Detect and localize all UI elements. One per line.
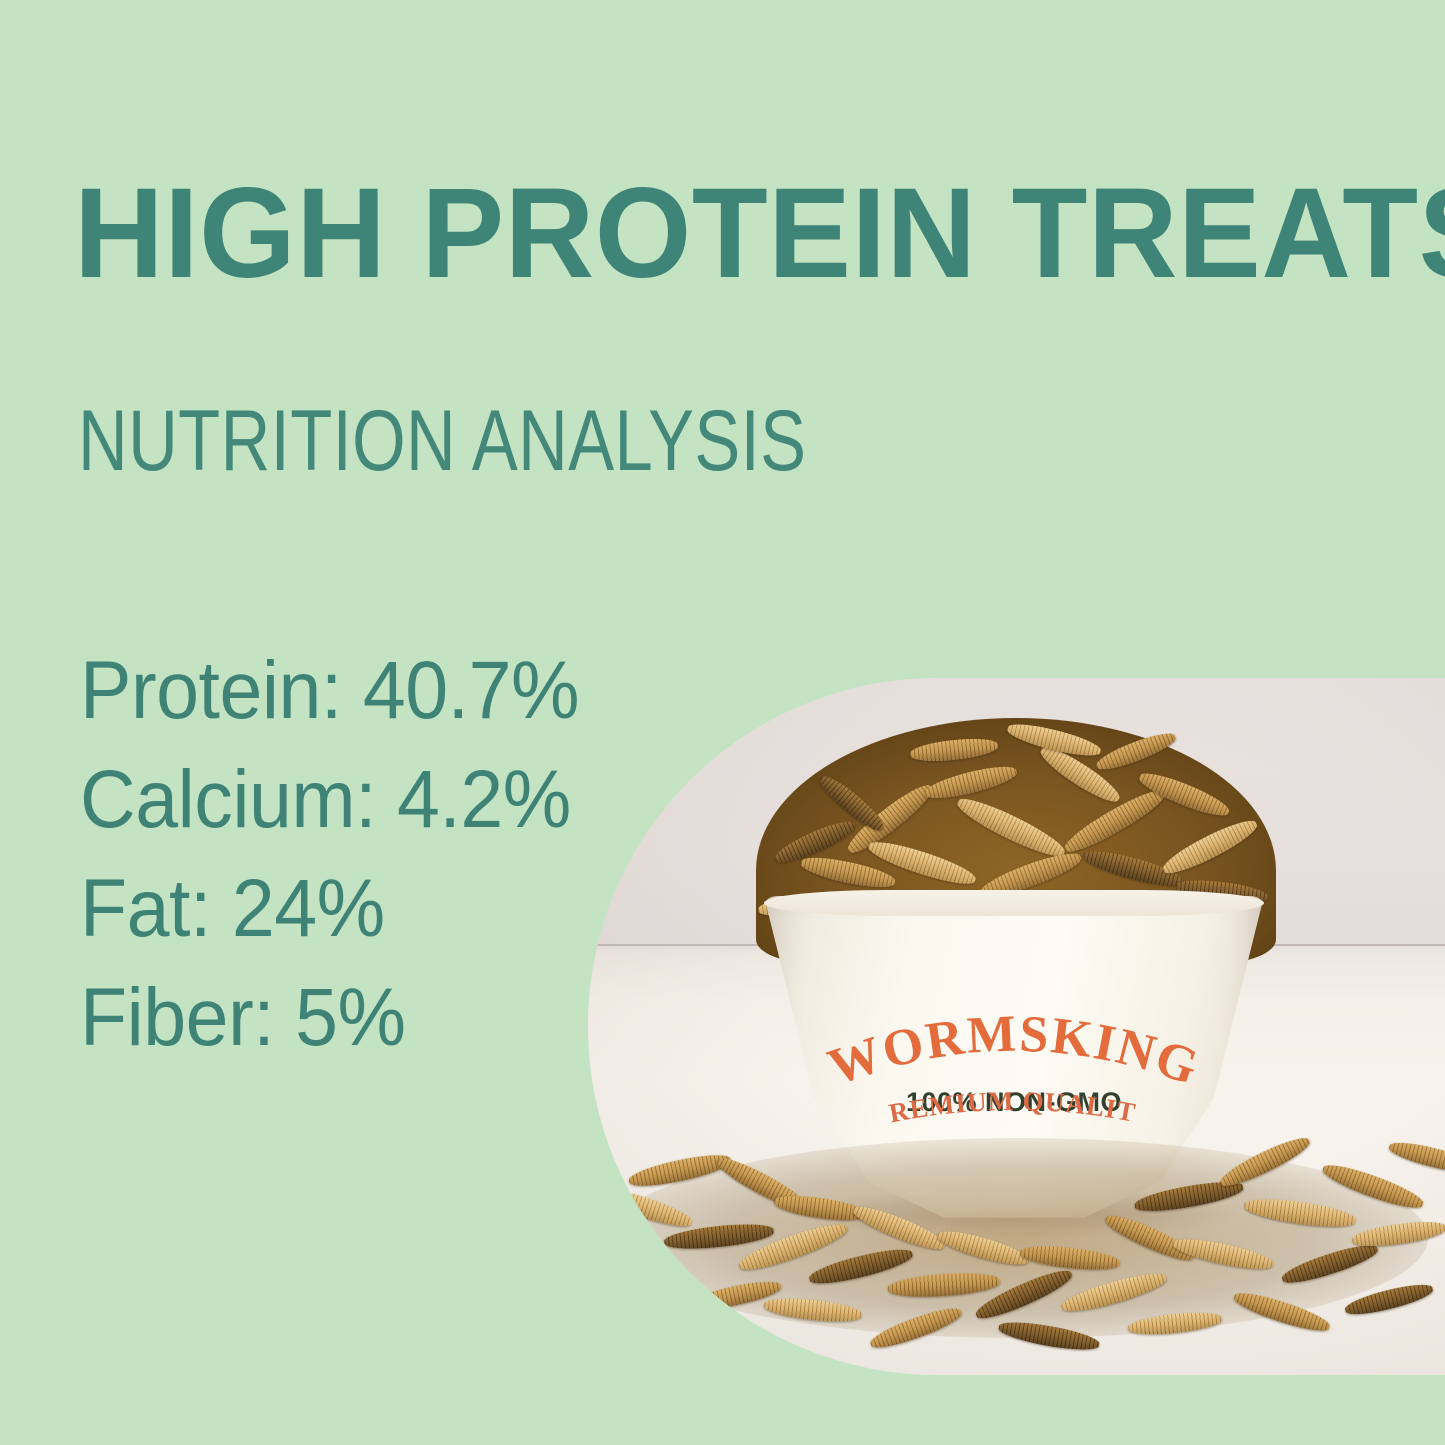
- page-title: HIGH PROTEIN TREATS: [74, 176, 1364, 291]
- list-item-protein: Protein: 40.7%: [80, 636, 663, 745]
- section-subtitle: NUTRITION ANALYSIS: [78, 398, 806, 484]
- list-item-fat: Fat: 24%: [80, 854, 663, 963]
- product-photo: WORMSKING 100% NON-GMO PREMIUM QUALITY: [588, 678, 1445, 1375]
- list-item-fiber: Fiber: 5%: [80, 963, 663, 1072]
- list-item-calcium: Calcium: 4.2%: [80, 745, 663, 854]
- bowl-rim: [764, 890, 1264, 916]
- product-infographic-poster: HIGH PROTEIN TREATS NUTRITION ANALYSIS P…: [0, 0, 1445, 1445]
- larvae-scatter: [588, 1078, 1445, 1375]
